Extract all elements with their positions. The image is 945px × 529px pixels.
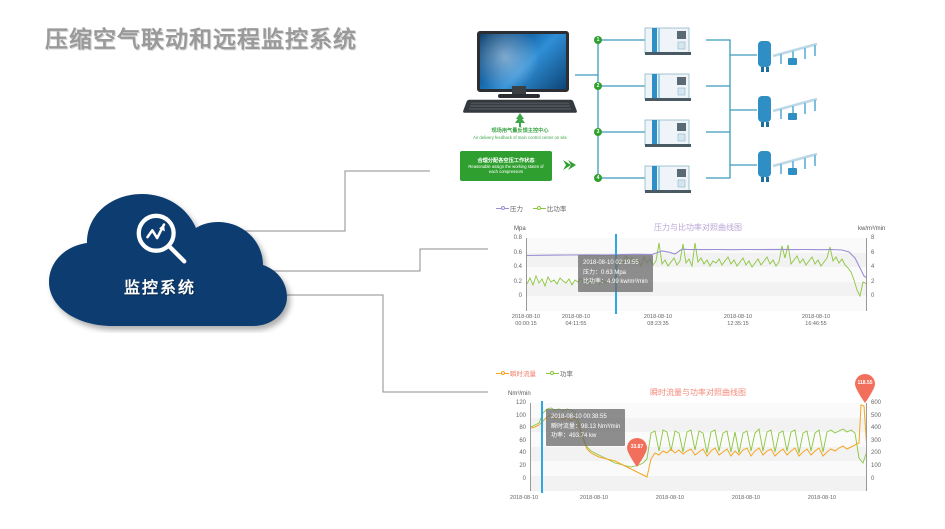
chart1-xtick: 2018-08-10 08:23:35 bbox=[630, 314, 686, 328]
compressor-icon bbox=[644, 118, 692, 148]
chart2-ytick-right: 500 bbox=[871, 413, 893, 419]
chart2-marker-pin[interactable] bbox=[626, 437, 648, 467]
legend-item-flow[interactable]: 瞬时流量 bbox=[496, 368, 536, 378]
chart2-cursor-line bbox=[541, 401, 543, 493]
air-tank-distribution-icon bbox=[755, 38, 850, 74]
node-3: 3 bbox=[594, 128, 602, 136]
chart2-title: 瞬时流量与功率对照曲线图 bbox=[598, 387, 798, 398]
node-2: 2 bbox=[594, 82, 602, 90]
chart2-marker-pin[interactable] bbox=[854, 373, 876, 403]
chart1-ytick: 0.2 bbox=[498, 279, 522, 285]
chart2-ytick: 40 bbox=[502, 450, 526, 456]
chart2-ytick-right: 0 bbox=[871, 476, 893, 482]
chart2-tooltip: 2018-08-10 00:38:55 瞬时流量：98.13 Nm³/min 功… bbox=[546, 409, 625, 446]
magnifier-chart-icon bbox=[131, 210, 193, 272]
chart2-xtick: 2018-08-10 bbox=[642, 495, 698, 502]
chart1-tooltip: 2018-08-10 02:19:55 压力：0.63 Mpa 比功率：4.99… bbox=[578, 255, 653, 292]
chart2-right-axis bbox=[866, 403, 867, 491]
chart1-xtick: 2018-08-10 04:11:55 bbox=[548, 314, 604, 328]
chart2-ytick: 100 bbox=[502, 413, 526, 419]
chart1-right-axis bbox=[866, 238, 867, 311]
cloud-label: 监控系统 bbox=[35, 274, 285, 298]
chart2-legend[interactable]: 瞬时流量 功率 bbox=[496, 368, 581, 378]
chart2-ytick: 120 bbox=[502, 400, 526, 406]
chart1-ytick: 0.6 bbox=[498, 250, 522, 256]
chart2-xtick: 2018-08-10 bbox=[794, 495, 850, 502]
chart1-ytick: 0.8 bbox=[498, 235, 522, 241]
chart1-ytick: 0.4 bbox=[498, 264, 522, 270]
chart2-ytick-right: 400 bbox=[871, 425, 893, 431]
node-1: 1 bbox=[594, 36, 602, 44]
air-tank-distribution-icon bbox=[755, 93, 850, 129]
flow-power-chart[interactable]: 瞬时流量 功率 瞬时流量与功率对照曲线图 Nm³/min bbox=[488, 365, 908, 529]
compressor-icon bbox=[644, 26, 692, 56]
chart1-ytick-right: 6 bbox=[871, 250, 891, 256]
chart2-ytick-right: 200 bbox=[871, 450, 893, 456]
chart2-ytick: 20 bbox=[502, 463, 526, 469]
chart2-ytick: 80 bbox=[502, 425, 526, 431]
monitoring-cloud[interactable]: 监控系统 bbox=[35, 188, 295, 333]
chart1-y-left-unit: Mpa bbox=[514, 226, 526, 232]
page-title: 压缩空气联动和远程监控系统 bbox=[45, 20, 357, 54]
node-4: 4 bbox=[594, 174, 602, 182]
chart2-ytick: 0 bbox=[502, 476, 526, 482]
compressor-icon bbox=[644, 72, 692, 102]
chart1-y-right-unit: kw/m³/min bbox=[858, 226, 885, 232]
chart1-ytick: 0 bbox=[498, 293, 522, 299]
chart1-legend[interactable]: 压力 比功率 bbox=[496, 203, 574, 213]
chart1-xtick: 2018-08-10 00:00:15 bbox=[498, 314, 554, 328]
chart2-ytick-right: 300 bbox=[871, 438, 893, 444]
legend-item-specific-power[interactable]: 比功率 bbox=[533, 203, 567, 213]
chart1-ytick-right: 2 bbox=[871, 279, 891, 285]
chart2-xtick: 2018-08-10 bbox=[566, 495, 622, 502]
legend-item-power[interactable]: 功率 bbox=[546, 368, 573, 378]
chart1-title: 压力与比功率对照曲线图 bbox=[598, 222, 798, 233]
chart1-xtick: 2018-08-10 16:46:55 bbox=[788, 314, 844, 328]
chart2-xtick: 2018-08-10 bbox=[496, 495, 552, 502]
chart1-ytick-right: 8 bbox=[871, 235, 891, 241]
chart1-ytick-right: 0 bbox=[871, 293, 891, 299]
compressor-icon bbox=[644, 164, 692, 194]
chart1-plot-area bbox=[526, 238, 866, 311]
chart2-xtick: 2018-08-10 bbox=[718, 495, 774, 502]
chart1-xtick: 2018-08-10 12:35:15 bbox=[710, 314, 766, 328]
air-tank-distribution-icon bbox=[755, 148, 850, 184]
chart2-y-left-unit: Nm³/min bbox=[508, 391, 531, 397]
chart2-marker-value: 33.87 bbox=[626, 444, 648, 450]
chart2-marker-value: 118.55 bbox=[854, 380, 876, 386]
chart2-ytick: 60 bbox=[502, 438, 526, 444]
chart2-ytick-right: 100 bbox=[871, 463, 893, 469]
chart1-ytick-right: 4 bbox=[871, 264, 891, 270]
legend-item-pressure[interactable]: 压力 bbox=[496, 203, 523, 213]
slide-root: 压缩空气联动和远程监控系统 监控系统 bbox=[0, 0, 945, 529]
pressure-specific-power-chart[interactable]: 压力 比功率 压力与比功率对照曲线图 Mpa kw/m³/min bbox=[488, 200, 908, 335]
system-diagram-panel: 现场用气量反馈主控中心 Air delivery feedback of mai… bbox=[430, 18, 930, 200]
